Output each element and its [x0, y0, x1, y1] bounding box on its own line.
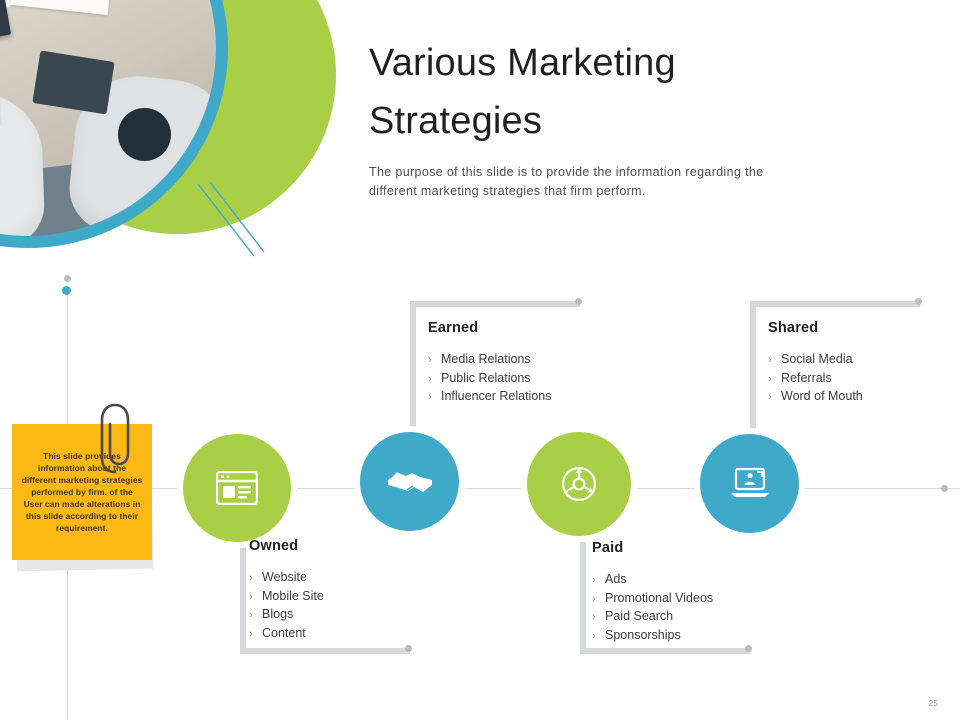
stage-heading-shared: Shared	[768, 320, 818, 336]
list-item: ›Social Media	[768, 351, 863, 370]
chevron-right-icon: ›	[249, 589, 262, 607]
chevron-right-icon: ›	[428, 389, 441, 407]
bracket-earned-dot	[575, 298, 582, 305]
stage-heading-paid: Paid	[592, 540, 623, 556]
browser-window-icon	[216, 471, 258, 505]
stage-items-paid: ›Ads ›Promotional Videos ›Paid Search ›S…	[592, 571, 713, 645]
chevron-right-icon: ›	[249, 570, 262, 588]
stage-heading-owned: Owned	[249, 538, 298, 554]
stage-node-paid[interactable]	[527, 432, 631, 536]
chevron-right-icon: ›	[592, 591, 605, 609]
list-item-label: Influencer Relations	[441, 388, 551, 406]
list-item-label: Sponsorships	[605, 627, 681, 645]
page-title-line-1: Various Marketing	[369, 34, 799, 92]
bracket-paid-horizontal	[580, 648, 750, 654]
list-item: ›Ads	[592, 571, 713, 590]
stage-node-shared[interactable]	[700, 434, 799, 533]
paperclip-icon	[98, 402, 132, 474]
list-item-label: Website	[262, 569, 307, 587]
bracket-shared-vertical	[750, 301, 756, 451]
list-item: ›Word of Mouth	[768, 388, 863, 407]
page-title: Various Marketing Strategies	[369, 34, 799, 150]
chevron-right-icon: ›	[249, 607, 262, 625]
list-item-label: Promotional Videos	[605, 590, 713, 608]
bracket-earned-horizontal	[410, 301, 580, 307]
list-item: ›Promotional Videos	[592, 590, 713, 609]
bracket-earned-vertical	[410, 301, 416, 451]
list-item-label: Public Relations	[441, 370, 531, 388]
bracket-paid-dot	[745, 645, 752, 652]
list-item: ›Sponsorships	[592, 627, 713, 646]
handshake-icon	[387, 467, 433, 497]
bracket-owned-dot	[405, 645, 412, 652]
list-item: ›Influencer Relations	[428, 388, 551, 407]
stage-items-shared: ›Social Media ›Referrals ›Word of Mouth	[768, 351, 863, 407]
stage-node-owned[interactable]	[183, 434, 291, 542]
page-number: 25	[929, 698, 938, 708]
laptop-share-icon	[729, 466, 771, 502]
list-item-label: Content	[262, 625, 306, 643]
list-item: ›Mobile Site	[249, 588, 324, 607]
photo-tablet	[32, 50, 114, 114]
bracket-owned-horizontal	[240, 648, 410, 654]
team-meeting-photo	[0, 0, 216, 236]
bracket-paid-vertical	[580, 522, 586, 649]
list-item-label: Mobile Site	[262, 588, 324, 606]
list-item: ›Referrals	[768, 370, 863, 389]
photo-person-head	[118, 108, 171, 161]
stage-heading-earned: Earned	[428, 320, 478, 336]
timeline-start-dot-small	[64, 275, 71, 282]
chevron-right-icon: ›	[592, 628, 605, 646]
leader-line	[196, 182, 266, 264]
list-item: ›Content	[249, 625, 324, 644]
timeline-start-dot	[62, 286, 71, 295]
chevron-right-icon: ›	[428, 352, 441, 370]
list-item: ›Public Relations	[428, 370, 551, 389]
page-subtitle: The purpose of this slide is to provide …	[369, 163, 805, 201]
list-item: ›Media Relations	[428, 351, 551, 370]
list-item: ›Website	[249, 569, 324, 588]
stage-items-owned: ›Website ›Mobile Site ›Blogs ›Content	[249, 569, 324, 643]
page-title-line-2: Strategies	[369, 92, 799, 150]
list-item-label: Word of Mouth	[781, 388, 863, 406]
chevron-right-icon: ›	[592, 609, 605, 627]
bracket-shared-horizontal	[750, 301, 920, 307]
list-item-label: Social Media	[781, 351, 853, 369]
chevron-right-icon: ›	[768, 352, 781, 370]
timeline-end-dot	[941, 485, 948, 492]
list-item-label: Referrals	[781, 370, 832, 388]
chevron-right-icon: ›	[592, 572, 605, 590]
list-item-label: Ads	[605, 571, 627, 589]
hero-graphic	[0, 0, 340, 270]
recycle-gear-icon	[557, 462, 601, 506]
bracket-shared-dot	[915, 298, 922, 305]
chevron-right-icon: ›	[249, 626, 262, 644]
chevron-right-icon: ›	[768, 371, 781, 389]
list-item: ›Paid Search	[592, 608, 713, 627]
list-item-label: Paid Search	[605, 608, 673, 626]
list-item: ›Blogs	[249, 606, 324, 625]
list-item-label: Media Relations	[441, 351, 531, 369]
stage-node-earned[interactable]	[360, 432, 459, 531]
chevron-right-icon: ›	[768, 389, 781, 407]
list-item-label: Blogs	[262, 606, 293, 624]
stage-items-earned: ›Media Relations ›Public Relations ›Infl…	[428, 351, 551, 407]
chevron-right-icon: ›	[428, 371, 441, 389]
